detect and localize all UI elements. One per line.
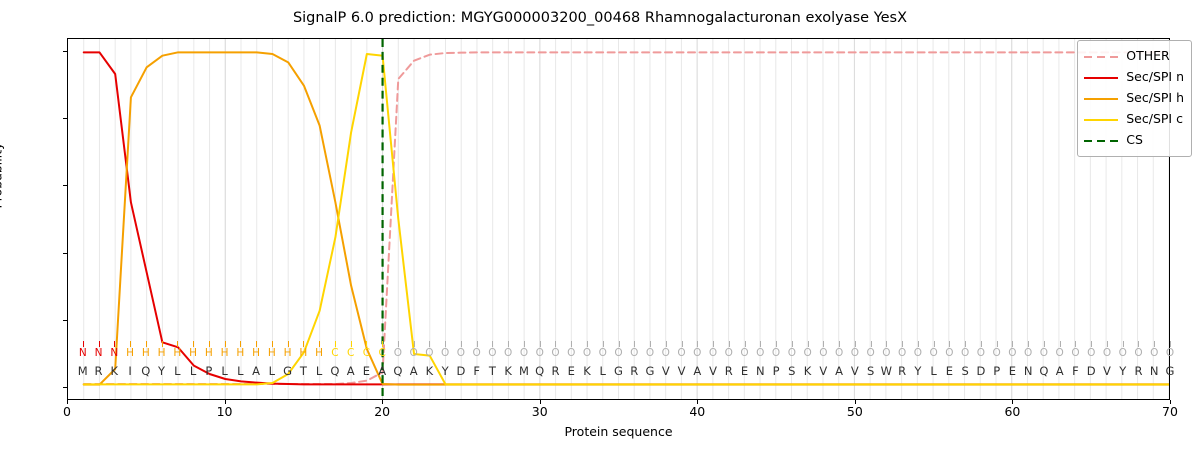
x-tick-mark [1012,400,1013,404]
x-tick-label: 20 [357,404,407,419]
residue-letter: L [927,366,941,378]
y-tick-mark [63,387,67,388]
residue-letter: P [202,366,216,378]
annotation-letter: O [533,348,547,359]
annotation-letter: O [1131,348,1145,359]
residue-letter: Q [533,366,547,378]
annotation-letter: O [816,348,830,359]
residue-letter: A [407,366,421,378]
annotation-letter: O [659,348,673,359]
residue-letter: V [659,366,673,378]
annotation-letter: O [690,348,704,359]
residue-letter: A [249,366,263,378]
annotation-letter: H [202,348,216,359]
x-tick-mark [1170,400,1171,404]
residue-letter: M [76,366,90,378]
legend-label: Sec/SPI h [1126,92,1184,105]
residue-letter: S [958,366,972,378]
residue-letter: Q [1037,366,1051,378]
annotation-letter: O [564,348,578,359]
residue-letter: K [580,366,594,378]
residue-letter: G [1163,366,1177,378]
residue-letter: S [864,366,878,378]
residue-letter: D [974,366,988,378]
x-tick-label: 70 [1145,404,1195,419]
annotation-letter: O [879,348,893,359]
annotation-letter: O [580,348,594,359]
x-tick-label: 0 [42,404,92,419]
annotation-letter: O [454,348,468,359]
series-line-other [84,52,1169,384]
annotation-letter: O [438,348,452,359]
residue-letter: R [722,366,736,378]
residue-letter: F [1068,366,1082,378]
annotation-letter: C [328,348,342,359]
x-tick-mark [540,400,541,404]
annotation-letter: O [848,348,862,359]
residue-letter: N [753,366,767,378]
annotation-letter: O [675,348,689,359]
annotation-letter: O [1053,348,1067,359]
y-axis-label: Probability [0,11,5,341]
legend-swatch-icon [1084,72,1118,84]
annotation-letter: H [296,348,310,359]
residue-letter: M [517,366,531,378]
annotation-letter: H [170,348,184,359]
annotation-letter: C [344,348,358,359]
annotation-letter: O [1068,348,1082,359]
annotation-letter: O [548,348,562,359]
series-line-sec-spi-h [84,52,1169,384]
annotation-letter: O [927,348,941,359]
residue-letter: L [265,366,279,378]
annotation-letter: O [470,348,484,359]
annotation-letter: O [1163,348,1177,359]
residue-letter: V [848,366,862,378]
residue-letter: E [1005,366,1019,378]
annotation-letter: O [612,348,626,359]
annotation-letter: O [1084,348,1098,359]
annotation-letter: O [990,348,1004,359]
residue-letter: Q [328,366,342,378]
annotation-letter: H [265,348,279,359]
residue-letter: E [942,366,956,378]
residue-letter: A [832,366,846,378]
series-line-sec-spi-c [84,54,1169,384]
annotation-letter: O [1021,348,1035,359]
legend-item-cs[interactable]: CS [1084,130,1184,151]
residue-letter: N [1147,366,1161,378]
annotation-letter: O [1005,348,1019,359]
annotation-letter: O [832,348,846,359]
legend-item-other[interactable]: OTHER [1084,46,1184,67]
annotation-letter: H [281,348,295,359]
residue-letter: Y [155,366,169,378]
x-tick-label: 30 [515,404,565,419]
x-tick-mark [225,400,226,404]
legend-label: Sec/SPI n [1126,71,1184,84]
annotation-letter: O [706,348,720,359]
annotation-letter: N [76,348,90,359]
residue-letter: W [879,366,893,378]
signalp-prediction-figure: SignalP 6.0 prediction: MGYG000003200_00… [0,0,1200,450]
residue-letter: P [990,366,1004,378]
residue-letter: R [627,366,641,378]
x-tick-mark [67,400,68,404]
annotation-letter: O [738,348,752,359]
series-line-sec-spi-n [84,52,1169,384]
residue-letter: N [1021,366,1035,378]
annotation-letter: O [753,348,767,359]
residue-letter: T [296,366,310,378]
residue-letter: G [612,366,626,378]
chart-title: SignalP 6.0 prediction: MGYG000003200_00… [0,10,1200,26]
annotation-letter: O [785,348,799,359]
legend-label: CS [1126,134,1143,147]
annotation-letter: O [407,348,421,359]
residue-letter: Y [911,366,925,378]
residue-letter: Q [139,366,153,378]
legend-item-sec-spi-h[interactable]: Sec/SPI h [1084,88,1184,109]
annotation-letter: O [422,348,436,359]
residue-letter: R [1131,366,1145,378]
residue-letter: L [186,366,200,378]
annotation-letter: H [233,348,247,359]
residue-letter: L [233,366,247,378]
residue-letter: T [485,366,499,378]
annotation-letter: O [1100,348,1114,359]
annotation-letter: H [312,348,326,359]
x-tick-mark [382,400,383,404]
residue-letter: P [769,366,783,378]
residue-letter: L [596,366,610,378]
legend-item-sec-spi-c[interactable]: Sec/SPI c [1084,109,1184,130]
annotation-letter: H [123,348,137,359]
x-tick-label: 40 [672,404,722,419]
x-axis-label: Protein sequence [67,424,1170,439]
residue-letter: V [675,366,689,378]
residue-letter: L [218,366,232,378]
x-tick-label: 50 [830,404,880,419]
residue-letter: D [454,366,468,378]
annotation-letter: O [911,348,925,359]
residue-letter: K [801,366,815,378]
legend-label: OTHER [1126,50,1169,63]
y-tick-mark [63,51,67,52]
legend-swatch-icon [1084,51,1118,63]
annotation-letter: H [218,348,232,359]
residue-letter: A [344,366,358,378]
annotation-letter: N [92,348,106,359]
annotation-letter: O [974,348,988,359]
legend-label: Sec/SPI c [1126,113,1183,126]
annotation-letter: O [958,348,972,359]
residue-letter: Y [438,366,452,378]
annotation-letter: O [895,348,909,359]
annotation-letter: O [722,348,736,359]
residue-letter: E [359,366,373,378]
annotation-letter: C [359,348,373,359]
annotation-letter: O [627,348,641,359]
legend-swatch-icon [1084,93,1118,105]
residue-letter: G [643,366,657,378]
annotation-letter: O [501,348,515,359]
x-tick-mark [855,400,856,404]
annotation-letter: H [249,348,263,359]
annotation-letter: O [801,348,815,359]
residue-letter: Q [391,366,405,378]
y-tick-mark [63,253,67,254]
residue-letter: V [706,366,720,378]
x-tick-label: 10 [200,404,250,419]
residue-letter: E [564,366,578,378]
annotation-letter: H [186,348,200,359]
y-tick-mark [63,185,67,186]
residue-letter: I [123,366,137,378]
residue-letter: L [312,366,326,378]
y-tick-mark [63,320,67,321]
residue-letter: V [816,366,830,378]
annotation-letter: O [1147,348,1161,359]
annotation-letter: O [485,348,499,359]
annotation-letter: H [139,348,153,359]
annotation-letter: C [375,348,389,359]
residue-letter: A [1053,366,1067,378]
residue-letter: R [548,366,562,378]
x-tick-mark [697,400,698,404]
annotation-letter: O [643,348,657,359]
residue-letter: K [501,366,515,378]
chart-legend[interactable]: OTHERSec/SPI nSec/SPI hSec/SPI cCS [1077,40,1192,157]
residue-letter: L [170,366,184,378]
legend-swatch-icon [1084,135,1118,147]
annotation-letter: O [864,348,878,359]
legend-swatch-icon [1084,114,1118,126]
residue-letter: K [422,366,436,378]
residue-letter: D [1084,366,1098,378]
annotation-letter: O [596,348,610,359]
annotation-letter: N [107,348,121,359]
annotation-letter: O [942,348,956,359]
residue-letter: Y [1116,366,1130,378]
residue-letter: A [375,366,389,378]
residue-letter: A [690,366,704,378]
residue-letter: F [470,366,484,378]
y-tick-mark [63,118,67,119]
residue-letter: E [738,366,752,378]
residue-letter: R [92,366,106,378]
annotation-letter: O [391,348,405,359]
residue-letter: R [895,366,909,378]
residue-letter: K [107,366,121,378]
annotation-letter: O [517,348,531,359]
residue-letter: V [1100,366,1114,378]
annotation-letter: O [1037,348,1051,359]
annotation-letter: O [1116,348,1130,359]
residue-letter: G [281,366,295,378]
annotation-letter: O [769,348,783,359]
legend-item-sec-spi-n[interactable]: Sec/SPI n [1084,67,1184,88]
annotation-letter: H [155,348,169,359]
residue-letter: S [785,366,799,378]
x-tick-label: 60 [987,404,1037,419]
